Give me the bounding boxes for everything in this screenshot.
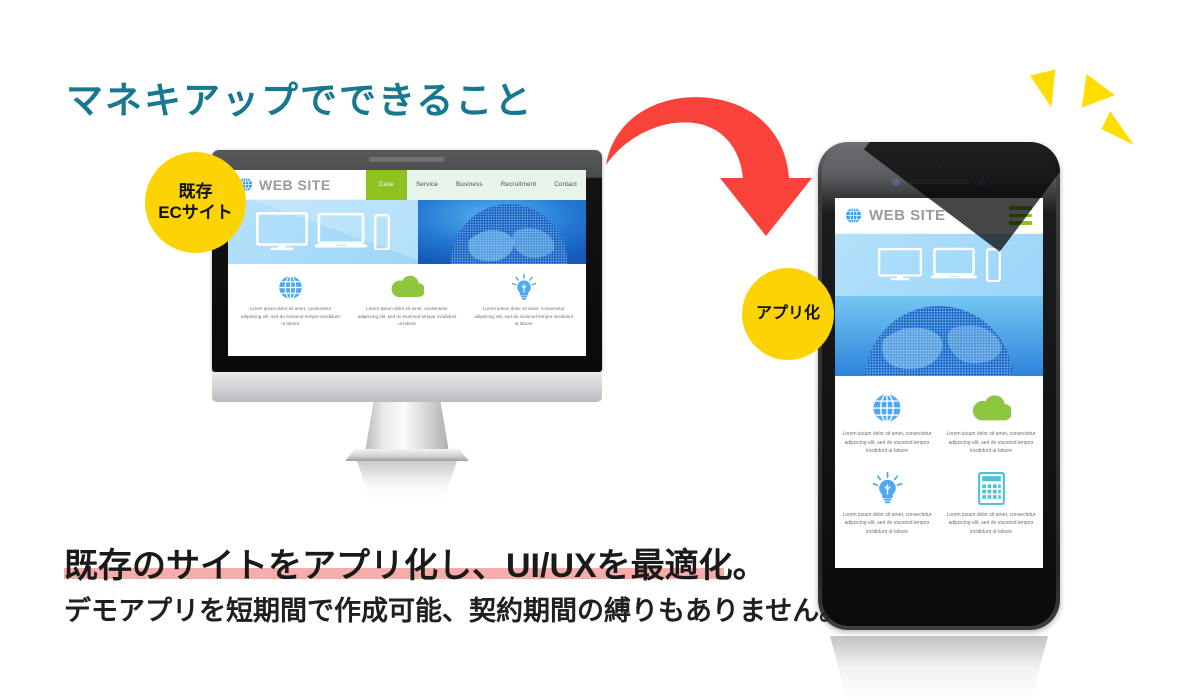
feature-card: Lorem ipsum dolor sit amet, consectetur …	[232, 272, 349, 328]
subline: デモアプリを短期間で作成可能、契約期間の縛りもありません。	[64, 589, 846, 628]
calculator-icon	[946, 470, 1036, 508]
badge-line-1: アプリ化	[756, 305, 820, 324]
feature-card-text: Lorem ipsum dolor sit amet, consectetur …	[236, 305, 345, 328]
monitor-speaker-slot	[369, 157, 445, 162]
slide-canvas: マネキアップでできること	[0, 0, 1200, 700]
cloud-icon	[353, 272, 462, 302]
globe-icon	[845, 207, 862, 224]
phone-camera-icon	[937, 164, 942, 169]
phone-feature-cards: Lorem ipsum dolor sit amet, consectetur …	[835, 376, 1043, 549]
globe-graphic	[418, 200, 586, 264]
nav-item-case[interactable]: Case	[366, 170, 407, 200]
curved-down-arrow-icon	[600, 88, 830, 243]
sparkle-triangle-icon	[1101, 111, 1142, 145]
site-logo-text: WEB SITE	[259, 177, 331, 193]
feature-card: Lorem ipsum dolor sit amet, consectetur …	[939, 384, 1043, 465]
feature-card: Lorem ipsum dolor sit amet, consectetur …	[349, 272, 466, 328]
laptop-outline-icon	[931, 247, 977, 282]
globe-icon	[842, 389, 932, 427]
phone-sensor-icon	[978, 178, 986, 186]
phone-globe-graphic	[835, 296, 1043, 376]
feature-card-text: Lorem ipsum dolor sit amet, consectetur …	[946, 430, 1036, 456]
feature-card-text: Lorem ipsum dolor sit amet, consectetur …	[353, 305, 462, 328]
laptop-outline-icon	[315, 212, 367, 252]
badge-existing-ec-site: 既存 ECサイト	[145, 152, 246, 253]
phone-outline-icon	[374, 214, 390, 251]
lightbulb-icon	[469, 272, 578, 302]
feature-card-text: Lorem ipsum dolor sit amet, consectetur …	[842, 430, 932, 456]
nav-item-business[interactable]: Business	[447, 170, 492, 200]
monitor-outline-icon	[256, 212, 308, 252]
phone-reflection	[830, 636, 1048, 700]
monitor-stand-neck	[365, 402, 449, 452]
phone-earpiece	[908, 179, 970, 184]
headline-wrap: 既存のサイトをアプリ化し、UI/UXを最適化。	[64, 538, 767, 587]
hamburger-menu-icon[interactable]	[1009, 206, 1032, 224]
nav-item-service[interactable]: Service	[407, 170, 447, 200]
feature-card: Lorem ipsum dolor sit amet, consectetur …	[835, 465, 939, 546]
nav-item-contact[interactable]: Contact	[545, 170, 586, 200]
smartphone-device: WEB SITE	[818, 142, 1060, 630]
site-logo[interactable]: WEB SITE	[835, 207, 946, 224]
desktop-feature-cards: Lorem ipsum dolor sit amet, consectetur …	[228, 264, 586, 334]
phone-hero-devices	[835, 234, 1043, 296]
phone-sensor-icon	[892, 178, 900, 186]
badge-line-2: ECサイト	[158, 203, 233, 223]
badge-line-1: 既存	[179, 182, 213, 202]
monitor-chin	[212, 372, 602, 402]
desktop-site-header: WEB SITE Case Service Business Recruitme…	[228, 170, 586, 200]
sparkle-triangle-icon	[1082, 74, 1117, 112]
badge-app-conversion: アプリ化	[742, 268, 834, 360]
monitor-outline-icon	[878, 248, 922, 282]
lightbulb-icon	[842, 470, 932, 508]
sparkle-triangle-icon	[1030, 69, 1064, 110]
feature-card: Lorem ipsum dolor sit amet, consectetur …	[835, 384, 939, 465]
feature-card: Lorem ipsum dolor sit amet, consectetur …	[465, 272, 582, 328]
desktop-hero-banner	[228, 200, 586, 264]
nav-item-recruitment[interactable]: Recruitment	[492, 170, 546, 200]
desktop-monitor: WEB SITE Case Service Business Recruitme…	[212, 150, 602, 372]
globe-icon	[236, 272, 345, 302]
feature-card-text: Lorem ipsum dolor sit amet, consectetur …	[946, 511, 1036, 537]
monitor-stand-base	[345, 449, 469, 461]
feature-card-text: Lorem ipsum dolor sit amet, consectetur …	[842, 511, 932, 537]
desktop-site-nav: Case Service Business Recruitment Contac…	[366, 170, 586, 200]
site-logo-text: WEB SITE	[869, 207, 946, 224]
feature-card: Lorem ipsum dolor sit amet, consectetur …	[939, 465, 1043, 546]
hero-device-illustration	[228, 200, 418, 264]
monitor-screen: WEB SITE Case Service Business Recruitme…	[228, 170, 586, 356]
page-title: マネキアップでできること	[66, 70, 533, 124]
feature-card-text: Lorem ipsum dolor sit amet, consectetur …	[469, 305, 578, 328]
phone-screen: WEB SITE	[835, 198, 1043, 568]
monitor-reflection	[357, 461, 457, 503]
phone-outline-icon	[986, 248, 1001, 283]
headline: 既存のサイトをアプリ化し、UI/UXを最適化。	[64, 538, 767, 587]
phone-site-header: WEB SITE	[835, 198, 1043, 234]
cloud-icon	[946, 389, 1036, 427]
